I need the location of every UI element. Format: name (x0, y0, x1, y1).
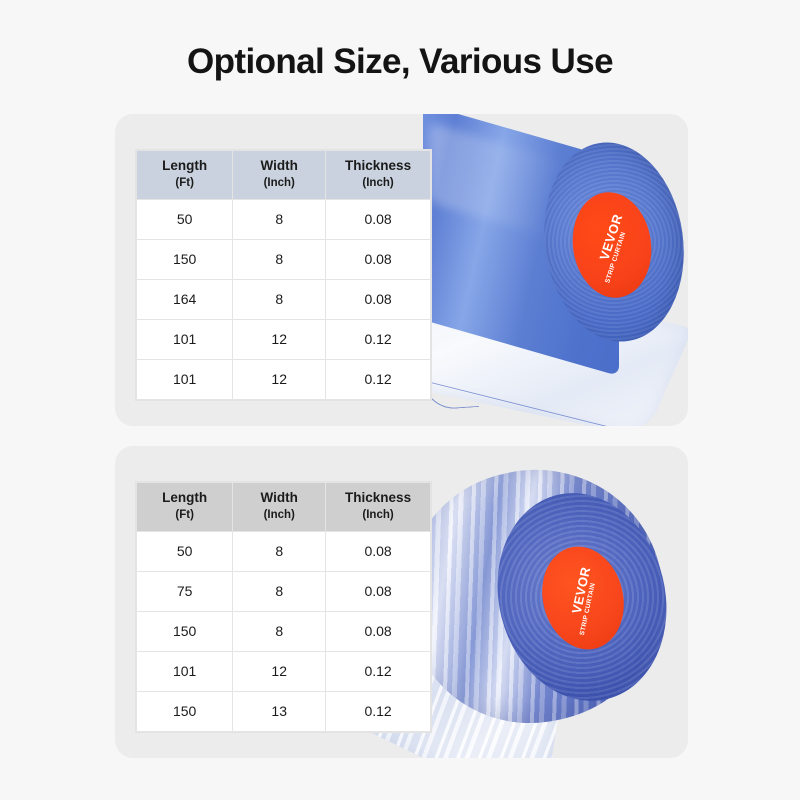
table-row: 75 8 0.08 (137, 572, 431, 612)
column-header-width-label: Width (261, 490, 298, 505)
table-row: 164 8 0.08 (137, 280, 431, 320)
vevor-label-disc (566, 187, 658, 303)
column-header-thickness-label: Thickness (345, 490, 411, 505)
cell-length: 164 (137, 280, 233, 320)
table-row: 101 12 0.12 (137, 320, 431, 360)
cell-width: 8 (233, 532, 326, 572)
roll-body-highlight (429, 122, 609, 254)
cell-thickness: 0.08 (326, 572, 431, 612)
cell-width: 12 (233, 360, 326, 400)
cell-length: 150 (137, 240, 233, 280)
table-row: 150 13 0.12 (137, 692, 431, 732)
cell-thickness: 0.08 (326, 532, 431, 572)
cell-length: 75 (137, 572, 233, 612)
column-header-length-unit: (Ft) (139, 175, 230, 191)
vevor-brand-text: VEVOR (569, 565, 594, 615)
cell-width: 13 (233, 692, 326, 732)
column-header-thickness-unit: (Inch) (328, 175, 428, 191)
cell-width: 8 (233, 240, 326, 280)
cell-thickness: 0.08 (326, 240, 431, 280)
cell-length: 50 (137, 200, 233, 240)
spec-table-body: 50 8 0.08 75 8 0.08 150 8 0.08 101 12 (137, 532, 431, 732)
column-header-length: Length (Ft) (137, 483, 233, 532)
table-row: 101 12 0.12 (137, 360, 431, 400)
column-header-thickness: Thickness (Inch) (326, 483, 431, 532)
cell-length: 101 (137, 320, 233, 360)
spec-table-ribbed-roll: Length (Ft) Width (Inch) Thickness (Inch… (136, 482, 431, 732)
column-header-length-unit: (Ft) (139, 507, 230, 523)
cell-length: 150 (137, 692, 233, 732)
table-row: 101 12 0.12 (137, 652, 431, 692)
column-header-width: Width (Inch) (233, 483, 326, 532)
roll-face-rings (532, 133, 688, 350)
cell-length: 150 (137, 612, 233, 652)
product-image-blue-pvc-roll-smooth: VEVOR STRIP CURTAIN (415, 114, 688, 426)
cell-length: 101 (137, 360, 233, 400)
table-row: 50 8 0.08 (137, 532, 431, 572)
column-header-width: Width (Inch) (233, 151, 326, 200)
roll-body-shape (423, 114, 619, 376)
strip-curtain-text: STRIP CURTAIN (604, 231, 627, 284)
vevor-label-text: VEVOR STRIP CURTAIN (566, 187, 658, 303)
roll-face-shape (532, 133, 688, 350)
column-header-width-unit: (Inch) (235, 507, 323, 523)
spec-table-body: 50 8 0.08 150 8 0.08 164 8 0.08 101 12 (137, 200, 431, 400)
vevor-brand-text: VEVOR (596, 212, 625, 262)
cell-width: 8 (233, 572, 326, 612)
coil-face-shape (476, 475, 688, 719)
table-header-row: Length (Ft) Width (Inch) Thickness (Inch… (137, 151, 431, 200)
table-header-row: Length (Ft) Width (Inch) Thickness (Inch… (137, 483, 431, 532)
cell-thickness: 0.12 (326, 652, 431, 692)
cell-thickness: 0.12 (326, 360, 431, 400)
table-row: 50 8 0.08 (137, 200, 431, 240)
cell-thickness: 0.08 (326, 200, 431, 240)
cell-thickness: 0.12 (326, 692, 431, 732)
cell-width: 8 (233, 280, 326, 320)
spec-card-ribbed-roll: VEVOR STRIP CURTAIN Length (Ft) Width (I… (115, 446, 688, 758)
spec-table-head: Length (Ft) Width (Inch) Thickness (Inch… (137, 151, 431, 200)
spec-table-head: Length (Ft) Width (Inch) Thickness (Inch… (137, 483, 431, 532)
vevor-label-disc (532, 538, 635, 658)
column-header-thickness-unit: (Inch) (328, 507, 428, 523)
column-header-length-label: Length (162, 158, 207, 173)
table-row: 150 8 0.08 (137, 240, 431, 280)
table-row: 150 8 0.08 (137, 612, 431, 652)
cell-length: 101 (137, 652, 233, 692)
coil-face-rings (476, 475, 688, 719)
column-header-thickness: Thickness (Inch) (326, 151, 431, 200)
column-header-width-label: Width (261, 158, 298, 173)
strip-curtain-text: STRIP CURTAIN (579, 583, 597, 637)
cell-thickness: 0.12 (326, 320, 431, 360)
cell-thickness: 0.08 (326, 280, 431, 320)
product-spec-page: Optional Size, Various Use VEVOR STRIP C… (0, 0, 800, 800)
spec-table-smooth-roll: Length (Ft) Width (Inch) Thickness (Inch… (136, 150, 431, 400)
spec-card-smooth-roll: VEVOR STRIP CURTAIN Length (Ft) Width (I… (115, 114, 688, 426)
vevor-label-text: VEVOR STRIP CURTAIN (532, 538, 635, 658)
column-header-length: Length (Ft) (137, 151, 233, 200)
cell-width: 12 (233, 320, 326, 360)
column-header-length-label: Length (162, 490, 207, 505)
column-header-thickness-label: Thickness (345, 158, 411, 173)
product-image-blue-pvc-roll-ribbed: VEVOR STRIP CURTAIN (395, 446, 688, 758)
cell-width: 12 (233, 652, 326, 692)
cell-width: 8 (233, 612, 326, 652)
column-header-width-unit: (Inch) (235, 175, 323, 191)
cell-width: 8 (233, 200, 326, 240)
page-title: Optional Size, Various Use (0, 40, 800, 84)
cell-thickness: 0.08 (326, 612, 431, 652)
cell-length: 50 (137, 532, 233, 572)
